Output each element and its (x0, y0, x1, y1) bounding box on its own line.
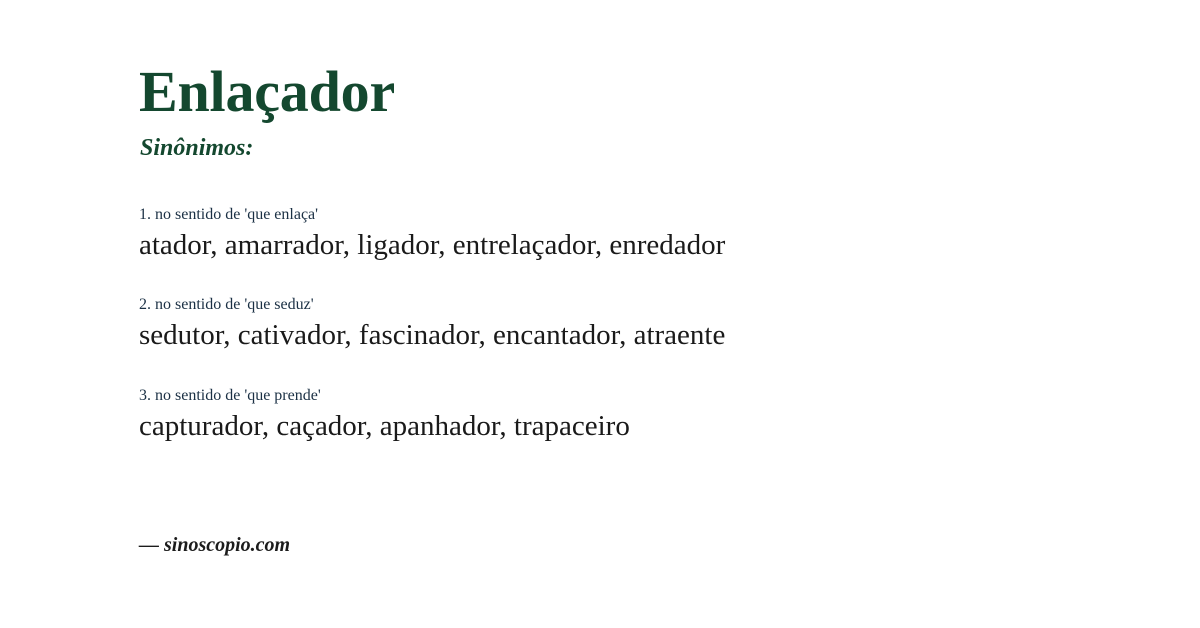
sense-label: 1. no sentido de 'que enlaça' (139, 205, 1139, 225)
source-attribution: — sinoscopio.com (139, 533, 290, 557)
sense-synonyms: sedutor, cativador, fascinador, encantad… (139, 318, 1139, 353)
sense-list: 1. no sentido de 'que enlaça' atador, am… (139, 205, 1139, 444)
sense-label: 3. no sentido de 'que prende' (139, 386, 1139, 406)
sense-entry: 3. no sentido de 'que prende' capturador… (139, 386, 1139, 444)
sense-synonyms: atador, amarrador, ligador, entrelaçador… (139, 228, 1139, 263)
sense-label: 2. no sentido de 'que seduz' (139, 295, 1139, 315)
sense-synonyms: capturador, caçador, apanhador, trapacei… (139, 409, 1139, 444)
synonym-card: Enlaçador Sinônimos: 1. no sentido de 'q… (0, 0, 1200, 628)
sense-entry: 2. no sentido de 'que seduz' sedutor, ca… (139, 295, 1139, 353)
subtitle-synonyms-label: Sinônimos: (140, 135, 253, 161)
page-title: Enlaçador (139, 62, 395, 121)
sense-entry: 1. no sentido de 'que enlaça' atador, am… (139, 205, 1139, 263)
